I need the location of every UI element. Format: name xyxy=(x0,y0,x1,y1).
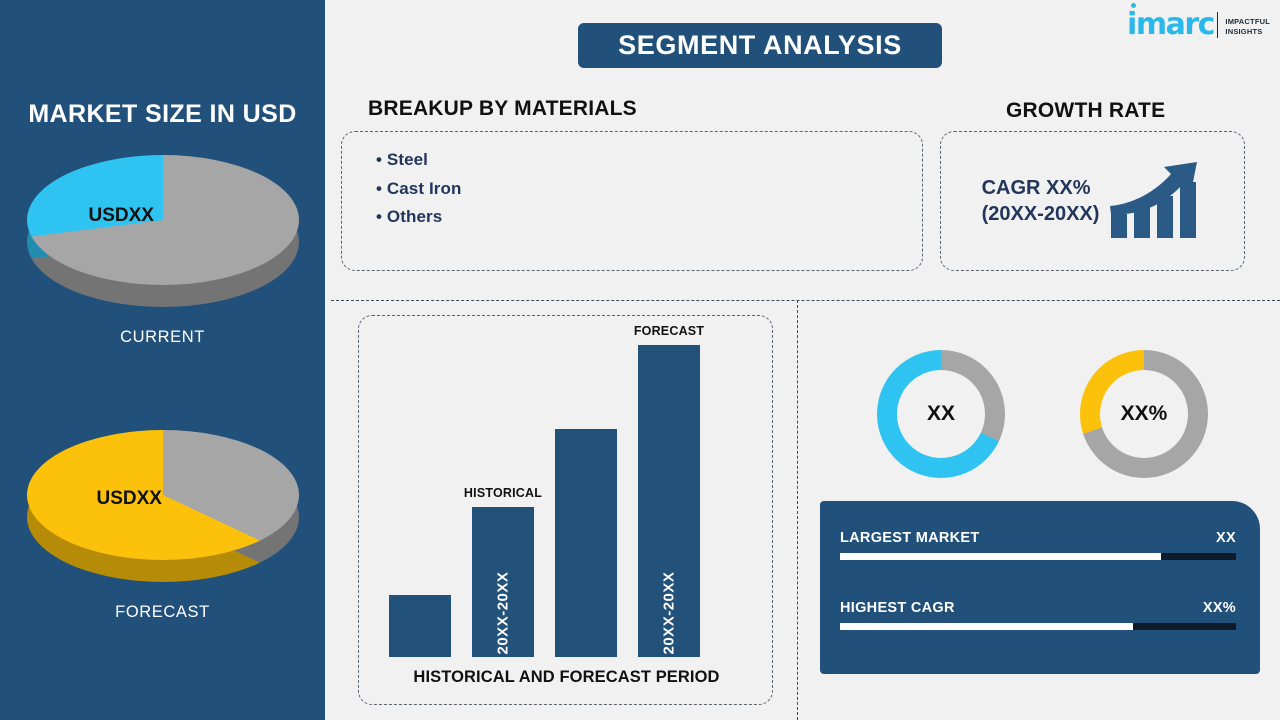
cagr-line-1: CAGR XX% xyxy=(982,175,1100,201)
market-stats-card: LARGEST MARKET XX HIGHEST CAGR XX% xyxy=(820,501,1260,674)
growth-heading: GROWTH RATE xyxy=(1006,99,1165,123)
horizontal-divider xyxy=(331,300,1280,301)
pie-chart-current: USDXX xyxy=(27,155,299,320)
logo-tagline: IMPACTFUL INSIGHTS xyxy=(1225,17,1270,40)
pie-forecast-slice-label: USDXX xyxy=(97,488,162,510)
segment-analysis-infographic: MARKET SIZE IN USD USDXX CURRENT USDXX F… xyxy=(0,0,1280,720)
donut-chart-0: XX xyxy=(877,350,1005,478)
stat-row-largest-market: LARGEST MARKET XX xyxy=(840,530,1236,560)
content-area: SEGMENT ANALYSIS imarc IMPACTFUL INSIGHT… xyxy=(325,0,1280,720)
market-size-panel: MARKET SIZE IN USD USDXX CURRENT USDXX F… xyxy=(0,0,325,720)
pie-forecast-top xyxy=(27,430,299,560)
logo-divider xyxy=(1217,12,1219,38)
pie-current-top xyxy=(27,155,299,285)
bar-3-label: 20XX-20XX xyxy=(661,543,678,655)
bar-1: HISTORICAL 20XX-20XX xyxy=(472,507,534,657)
stat-0-label: LARGEST MARKET xyxy=(840,530,980,546)
pie-chart-forecast: USDXX xyxy=(27,430,299,595)
donut-0-value: XX xyxy=(927,402,955,426)
bar-3: FORECAST 20XX-20XX xyxy=(638,345,700,657)
vertical-divider xyxy=(797,300,798,720)
donut-1-value: XX% xyxy=(1121,402,1168,426)
bar-1-annotation: HISTORICAL xyxy=(464,486,542,500)
cagr-line-2: (20XX-20XX) xyxy=(982,201,1100,227)
bar-3-annotation: FORECAST xyxy=(634,324,704,338)
stat-1-track xyxy=(840,623,1236,630)
stat-1-fill xyxy=(840,623,1133,630)
breakup-item-0: Steel xyxy=(376,146,922,175)
pie-current-slice-label: USDXX xyxy=(89,205,154,227)
bar-2 xyxy=(555,429,617,657)
imarc-logo: imarc IMPACTFUL INSIGHTS xyxy=(1127,10,1270,40)
stat-1-header: HIGHEST CAGR XX% xyxy=(840,600,1236,616)
bar-plot: HISTORICAL 20XX-20XX FORECAST 20XX-20XX xyxy=(389,345,744,657)
pie-block-current: USDXX CURRENT xyxy=(0,155,325,347)
pie-block-forecast: USDXX FORECAST xyxy=(0,430,325,622)
logo-tagline-line2: INSIGHTS xyxy=(1225,27,1270,37)
bar-1-label: 20XX-20XX xyxy=(495,543,512,655)
stat-1-value: XX% xyxy=(1203,600,1236,616)
header-band: SEGMENT ANALYSIS imarc IMPACTFUL INSIGHT… xyxy=(325,0,1280,90)
stat-0-fill xyxy=(840,553,1161,560)
bar-0 xyxy=(389,595,451,657)
logo-tagline-line1: IMPACTFUL xyxy=(1225,17,1270,27)
stat-0-track xyxy=(840,553,1236,560)
breakup-item-1: Cast Iron xyxy=(376,175,922,204)
pie-forecast-caption: FORECAST xyxy=(0,603,325,622)
logo-word-text: imarc xyxy=(1127,10,1214,40)
donut-0-hole: XX xyxy=(897,370,985,458)
breakup-box: Steel Cast Iron Others xyxy=(341,131,923,271)
breakup-heading: BREAKUP BY MATERIALS xyxy=(368,97,637,121)
logo-wordmark: imarc xyxy=(1127,10,1214,40)
pie-current-caption: CURRENT xyxy=(0,328,325,347)
market-size-title: MARKET SIZE IN USD xyxy=(0,100,325,129)
donut-group: XX XX% xyxy=(815,350,1270,495)
donut-chart-1: XX% xyxy=(1080,350,1208,478)
donut-1-hole: XX% xyxy=(1100,370,1188,458)
stat-row-highest-cagr: HIGHEST CAGR XX% xyxy=(840,600,1236,630)
breakup-item-2: Others xyxy=(376,203,922,232)
historical-forecast-chart: HISTORICAL 20XX-20XX FORECAST 20XX-20XX … xyxy=(358,315,773,705)
page-title: SEGMENT ANALYSIS xyxy=(578,23,942,68)
cagr-text: CAGR XX% (20XX-20XX) xyxy=(982,175,1100,227)
growth-box: CAGR XX% (20XX-20XX) xyxy=(940,131,1245,271)
growth-arrow-bars-icon xyxy=(1107,158,1203,245)
stat-1-label: HIGHEST CAGR xyxy=(840,600,955,616)
bar-chart-caption: HISTORICAL AND FORECAST PERIOD xyxy=(359,668,774,687)
stat-0-header: LARGEST MARKET XX xyxy=(840,530,1236,546)
stat-0-value: XX xyxy=(1216,530,1236,546)
